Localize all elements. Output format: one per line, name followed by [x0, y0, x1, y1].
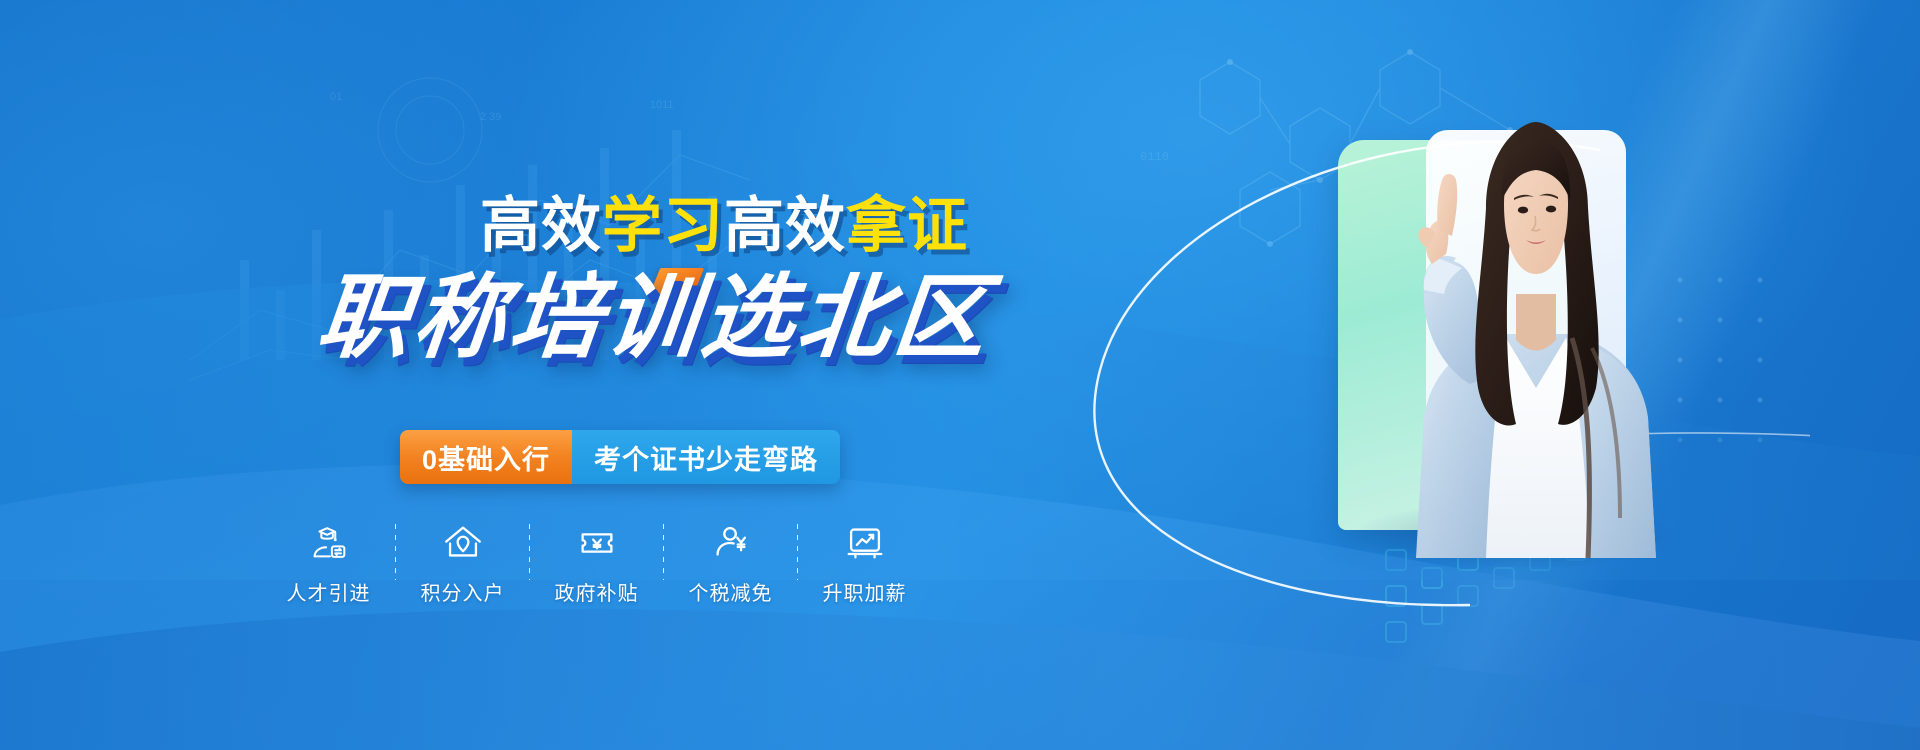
feature-item-government-subsidy[interactable]: 政府补贴 — [530, 520, 663, 606]
headline-seg-1: 高效 — [480, 192, 602, 259]
coupon-yuan-icon — [574, 520, 620, 566]
model-photo-composition — [1020, 0, 1920, 750]
headline-line-2: 职称培训选北区 — [313, 272, 995, 364]
feature-item-tax-reduction[interactable]: 个税减免 — [664, 520, 797, 606]
person-yuan-icon — [708, 520, 754, 566]
feature-item-points-residency[interactable]: 积分入户 — [396, 520, 529, 606]
headline-seg-3: 高效 — [724, 192, 846, 259]
badge-slogan-label: 考个证书少走弯路 — [572, 430, 840, 484]
headline-line-1: 高效学习高效拿证 — [480, 196, 968, 256]
feature-label: 个税减免 — [689, 577, 773, 606]
feature-label: 人才引进 — [287, 577, 371, 606]
chart-board-icon — [842, 520, 888, 566]
house-location-icon — [440, 520, 486, 566]
feature-item-talent-introduction[interactable]: 人才引进 — [262, 520, 395, 606]
badge-tag-label: 0基础入行 — [400, 430, 572, 484]
feature-label: 政府补贴 — [555, 577, 639, 606]
feature-label: 升职加薪 — [823, 577, 907, 606]
woman-pointing-up-photo — [1320, 88, 1750, 558]
headline-seg-2-highlight: 学习 — [602, 192, 724, 259]
promo-banner: 2 39011011 10010110 — [0, 0, 1920, 750]
feature-list: 人才引进 积分入户 — [262, 520, 931, 606]
feature-label: 积分入户 — [421, 577, 505, 606]
graduate-person-icon — [306, 520, 352, 566]
slogan-badge: 0基础入行 考个证书少走弯路 — [400, 430, 840, 484]
